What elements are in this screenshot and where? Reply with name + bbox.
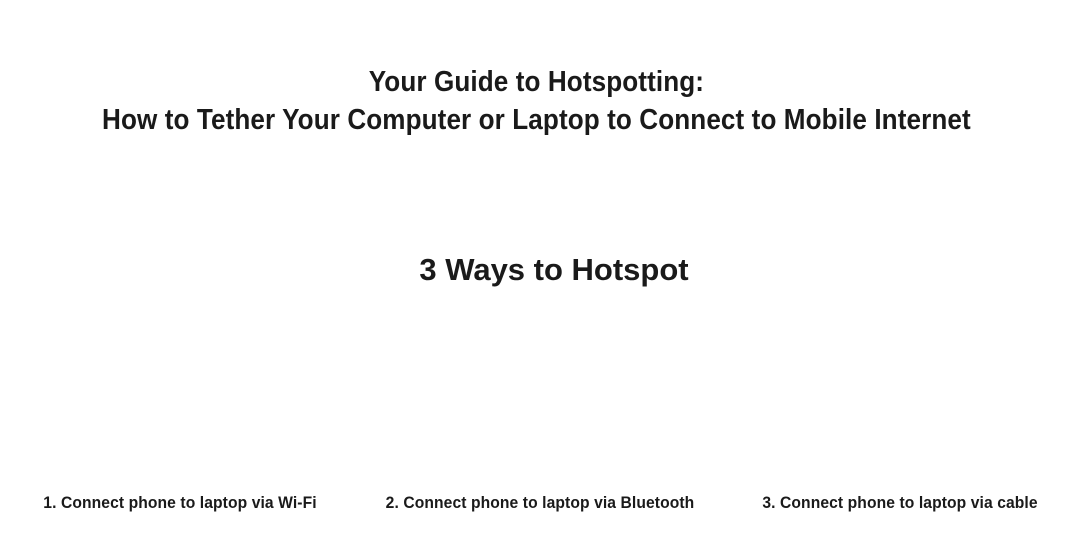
step-caption-1: 1. Connect phone to laptop via Wi-Fi (14, 492, 345, 514)
bluetooth-tethering-illustration (375, 286, 705, 492)
page-title-line-2: How to Tether Your Computer or Laptop to… (54, 101, 1019, 139)
wifi-tethering-illustration (15, 286, 345, 492)
cable-tethering-illustration (735, 286, 1065, 492)
steps-row: 1. Connect phone to laptop via Wi-Fi 2. … (0, 286, 1080, 514)
step-caption-2: 2. Connect phone to laptop via Bluetooth (374, 492, 705, 514)
page-title: Your Guide to Hotspotting: How to Tether… (54, 63, 1026, 139)
step-column-1: 1. Connect phone to laptop via Wi-Fi (0, 286, 360, 514)
step-column-3: 3. Connect phone to laptop via cable (720, 286, 1080, 514)
article-page: Your Guide to Hotspotting: How to Tether… (0, 0, 1080, 552)
section-heading: 3 Ways to Hotspot (14, 250, 1080, 290)
step-column-2: 2. Connect phone to laptop via Bluetooth (360, 286, 720, 514)
step-caption-3: 3. Connect phone to laptop via cable (734, 492, 1065, 514)
page-title-line-1: Your Guide to Hotspotting: (54, 63, 1019, 101)
